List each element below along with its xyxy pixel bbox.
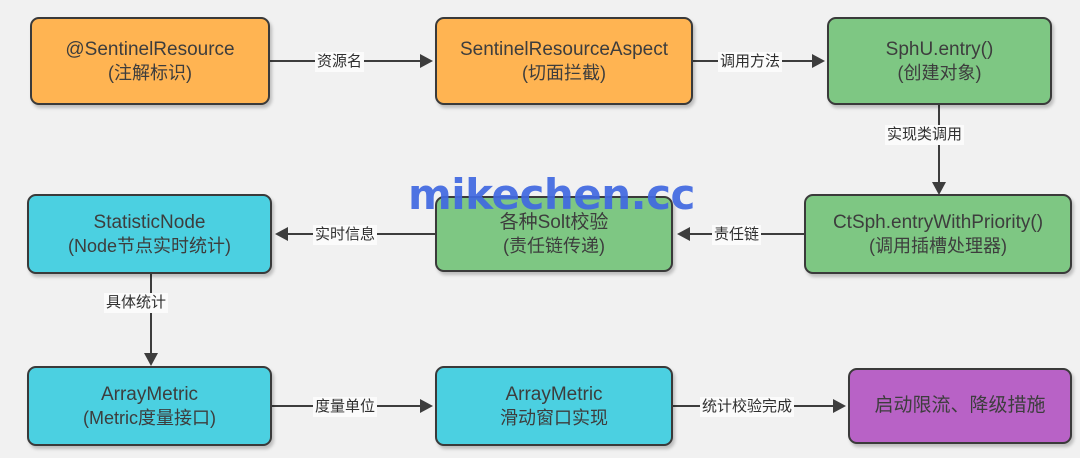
edge-responsibility-chain-arrowhead	[677, 227, 690, 241]
node-line1: ArrayMetric	[101, 383, 198, 407]
node-limit-degrade[interactable]: 启动限流、降级措施	[848, 368, 1072, 444]
edge-statistics-done-arrowhead	[833, 399, 846, 413]
edge-concrete-statistics-line	[150, 274, 152, 353]
edge-realtime-info-arrowhead	[275, 227, 288, 241]
node-line1: CtSph.entryWithPriority()	[833, 211, 1043, 235]
node-statistic-node[interactable]: StatisticNode (Node节点实时统计)	[27, 194, 272, 274]
node-line1: SphU.entry()	[886, 38, 994, 62]
node-line2: (调用插槽处理器)	[869, 235, 1007, 257]
edge-statistics-done-label: 统计校验完成	[700, 397, 794, 417]
node-line2: 滑动窗口实现	[500, 407, 608, 429]
edge-responsibility-chain-label: 责任链	[712, 225, 761, 245]
node-line2: (Node节点实时统计)	[68, 235, 231, 257]
node-line1: ArrayMetric	[505, 383, 602, 407]
edge-measure-unit-arrowhead	[420, 399, 433, 413]
edge-call-method-arrowhead	[812, 54, 825, 68]
node-line1: @SentinelResource	[65, 38, 234, 62]
flowchart-canvas: @SentinelResource (注解标识) SentinelResourc…	[0, 0, 1080, 458]
node-ctsph-entry-with-priority[interactable]: CtSph.entryWithPriority() (调用插槽处理器)	[804, 194, 1072, 274]
node-line1: SentinelResourceAspect	[460, 38, 668, 62]
edge-concrete-statistics-arrowhead	[144, 353, 158, 366]
node-line1: 各种Solt校验	[500, 211, 609, 235]
edge-call-method-label: 调用方法	[718, 52, 782, 72]
node-line2: (创建对象)	[898, 62, 982, 84]
edge-realtime-info-label: 实时信息	[313, 225, 377, 245]
node-line2: (切面拦截)	[522, 62, 606, 84]
edge-impl-class-call-label: 实现类调用	[885, 125, 964, 145]
node-line2: (责任链传递)	[503, 235, 605, 257]
edge-resource-name-arrowhead	[420, 54, 433, 68]
node-array-metric-interface[interactable]: ArrayMetric (Metric度量接口)	[27, 366, 272, 446]
node-slot-chain[interactable]: 各种Solt校验 (责任链传递)	[435, 196, 673, 272]
node-array-metric-window[interactable]: ArrayMetric 滑动窗口实现	[435, 366, 673, 446]
node-line2: (Metric度量接口)	[83, 407, 216, 429]
node-line1: StatisticNode	[94, 211, 206, 235]
node-line2: (注解标识)	[108, 62, 192, 84]
node-sphu-entry[interactable]: SphU.entry() (创建对象)	[827, 17, 1052, 105]
node-sentinel-resource[interactable]: @SentinelResource (注解标识)	[30, 17, 270, 105]
node-sentinel-resource-aspect[interactable]: SentinelResourceAspect (切面拦截)	[435, 17, 693, 105]
edge-resource-name-label: 资源名	[315, 52, 364, 72]
node-line1: 启动限流、降级措施	[874, 394, 1045, 418]
edge-measure-unit-label: 度量单位	[313, 397, 377, 417]
edge-concrete-statistics-label: 具体统计	[104, 293, 168, 313]
